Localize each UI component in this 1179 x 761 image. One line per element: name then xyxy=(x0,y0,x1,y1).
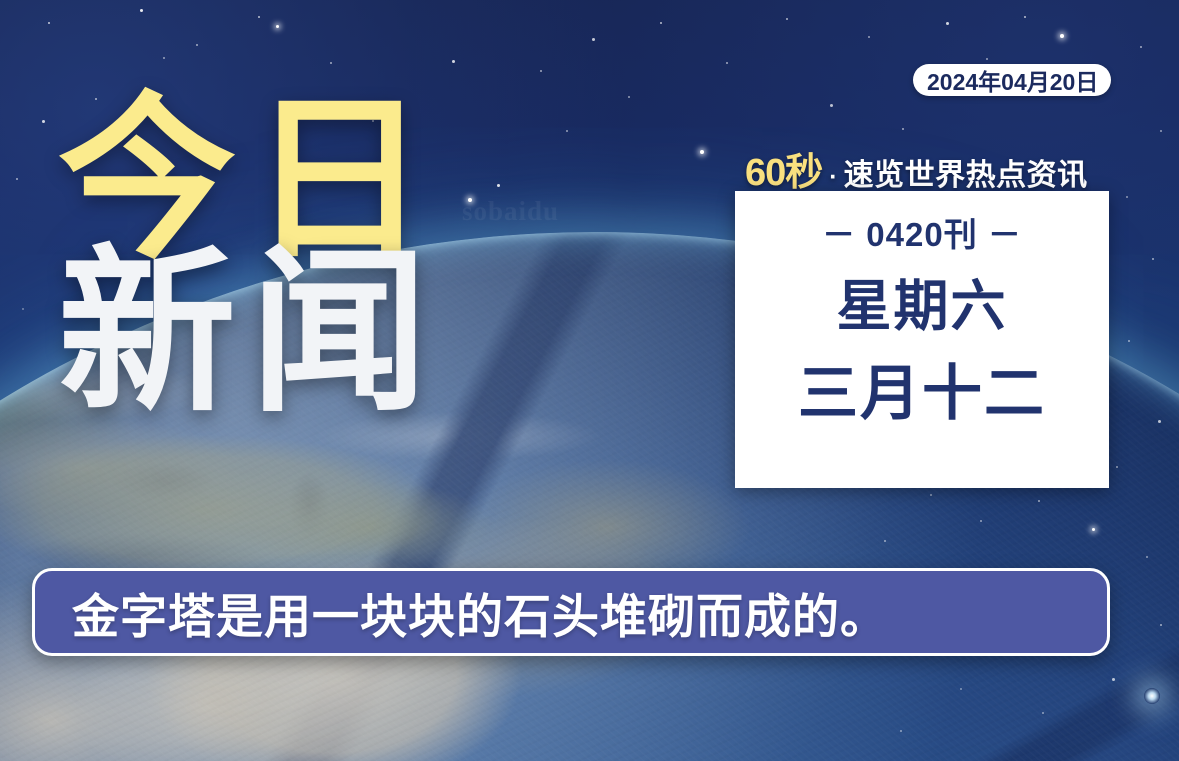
tagline-separator: · xyxy=(829,163,837,192)
watermark-text: sobaidu xyxy=(462,196,559,227)
tagline-highlight: 60秒 xyxy=(745,141,822,196)
date-badge: 2024年04月20日 xyxy=(913,64,1111,96)
weekday-label: 星期六 xyxy=(836,279,1007,334)
quote-banner: 金字塔是用一块块的石头堆砌而成的。 xyxy=(32,568,1110,656)
page-title: 今日 新闻 xyxy=(58,96,442,417)
quote-banner-text: 金字塔是用一块块的石头堆砌而成的。 xyxy=(72,578,888,647)
news-poster: sobaidu 2024年04月20日 60秒 · 速览世界热点资讯 － 042… xyxy=(0,0,1179,761)
tagline: 60秒 · 速览世界热点资讯 xyxy=(745,141,1088,196)
date-badge-label: 2024年04月20日 xyxy=(927,63,1098,97)
info-card: － 0420刊 － 星期六 三月十二 xyxy=(735,191,1109,488)
title-line-xinwen: 新闻 xyxy=(58,249,442,416)
tagline-rest: 速览世界热点资讯 xyxy=(844,150,1088,194)
lunar-date-label: 三月十二 xyxy=(798,364,1046,424)
issue-number: － 0420刊 － xyxy=(822,208,1022,256)
